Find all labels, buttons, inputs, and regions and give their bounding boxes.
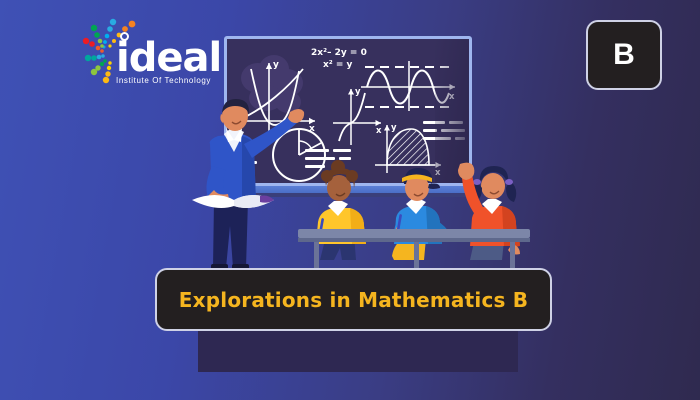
svg-text:y: y	[391, 123, 397, 133]
course-title: Explorations in Mathematics B	[179, 288, 528, 312]
students-group	[298, 160, 534, 272]
logo-wordmark: ideal	[116, 38, 221, 78]
board-text-line	[333, 149, 351, 152]
teacher-figure	[186, 96, 306, 272]
course-title-panel: Explorations in Mathematics B	[155, 268, 552, 331]
equation-2: x² = y	[323, 60, 352, 70]
course-level-badge: B	[586, 20, 662, 90]
board-text-line	[305, 149, 329, 152]
svg-text:y: y	[273, 60, 279, 70]
student-blue	[392, 168, 450, 260]
logo-tagline: Institute Of Technology	[116, 76, 211, 85]
ideal-logo: ideal Institute Of Technology	[80, 18, 230, 96]
student-yellow	[316, 160, 366, 260]
course-banner: ideal Institute Of Technology B 2x²– 2y …	[0, 0, 700, 400]
